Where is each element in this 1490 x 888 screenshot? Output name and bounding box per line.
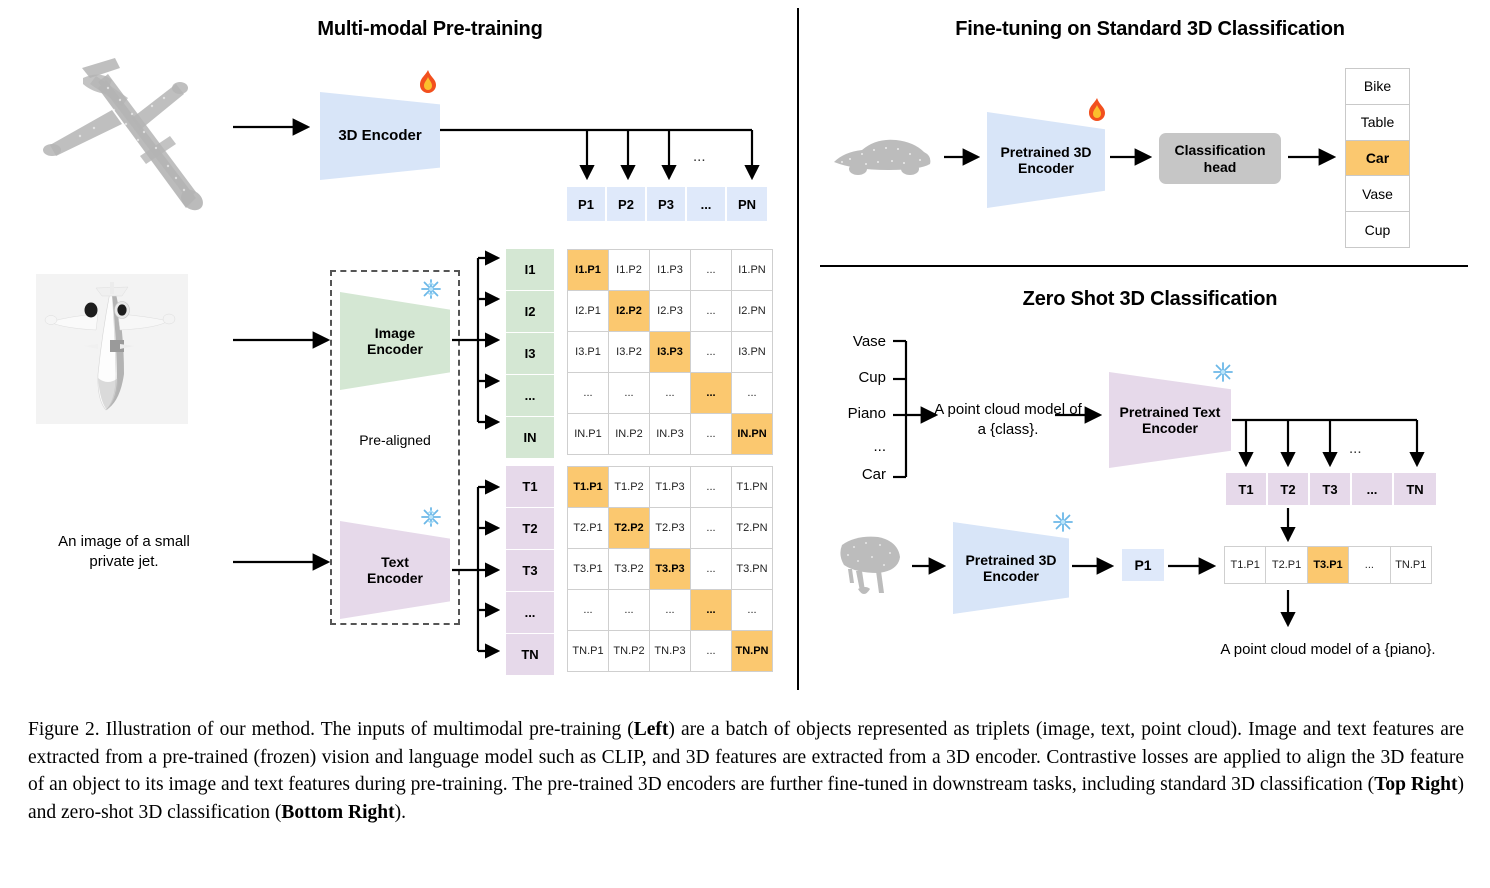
text-token-row: T1 T2 T3 ... TN [1225,472,1437,506]
figure-canvas: Multi-modal Pre-training [0,0,1490,700]
class-item-selected[interactable]: Car [1346,141,1409,176]
piano-point-cloud [832,527,912,607]
point-feature-row: P1 P2 P3 ... PN [566,186,768,222]
matrix-cell[interactable]: ... [691,590,731,630]
p-token[interactable]: P2 [606,186,646,222]
p-token[interactable]: P3 [646,186,686,222]
matrix-cell[interactable]: ... [568,373,608,413]
sim-cell[interactable]: ... [1349,547,1389,583]
matrix-cell[interactable]: IN.PN [732,414,772,454]
matrix-cell[interactable]: ... [691,332,731,372]
i-label[interactable]: ... [506,375,554,416]
sim-cell[interactable]: TN.P1 [1391,547,1431,583]
matrix-cell[interactable]: TN.P1 [568,631,608,671]
matrix-cell[interactable]: ... [732,590,772,630]
t-token[interactable]: TN [1393,472,1437,506]
image-point-similarity-matrix: I1.P1 I1.P2 I1.P3 ... I1.PN I2.P1 I2.P2 … [567,249,773,455]
matrix-cell[interactable]: I3.P1 [568,332,608,372]
snowflake-icon [420,278,442,300]
pre-aligned-label: Pre-aligned [330,431,460,449]
matrix-cell[interactable]: ... [691,250,731,290]
matrix-cell[interactable]: T3.PN [732,549,772,589]
matrix-cell[interactable]: I3.P2 [609,332,649,372]
matrix-cell[interactable]: IN.P2 [609,414,649,454]
matrix-cell[interactable]: T3.P1 [568,549,608,589]
snowflake-icon [420,506,442,528]
class-prediction-list: Bike Table Car Vase Cup [1345,68,1410,248]
i-label[interactable]: I3 [506,333,554,374]
matrix-cell[interactable]: IN.P3 [650,414,690,454]
matrix-cell[interactable]: ... [732,373,772,413]
candidate-class[interactable]: Piano [824,405,886,422]
prompt-template-text: A point cloud model of a {class}. [910,400,1106,439]
sim-cell-selected[interactable]: T3.P1 [1308,547,1348,583]
class-item[interactable]: Cup [1346,212,1409,247]
i-label[interactable]: I1 [506,249,554,290]
t-token[interactable]: ... [1351,472,1393,506]
t-label[interactable]: TN [506,634,554,675]
p-token[interactable]: PN [726,186,768,222]
input-text-caption: An image of a small private jet. [34,532,214,571]
matrix-cell[interactable]: T2.P3 [650,508,690,548]
sim-cell[interactable]: T1.P1 [1225,547,1265,583]
p-token[interactable]: ... [686,186,726,222]
p-token[interactable]: P1 [566,186,606,222]
t-label[interactable]: T1 [506,466,554,507]
matrix-cell[interactable]: ... [691,467,731,507]
zeroshot-similarity-row: T1.P1 T2.P1 T3.P1 ... TN.P1 [1224,546,1432,584]
matrix-cell[interactable]: TN.P3 [650,631,690,671]
jet-render-image [36,274,188,424]
matrix-cell[interactable]: T3.P3 [650,549,690,589]
fire-icon [418,70,438,96]
matrix-cell[interactable]: I2.P3 [650,291,690,331]
class-item[interactable]: Vase [1346,176,1409,211]
p1-feature-token[interactable]: P1 [1121,548,1165,582]
t-token[interactable]: T2 [1267,472,1309,506]
i-label[interactable]: I2 [506,291,554,332]
figure-caption: Figure 2. Illustration of our method. Th… [28,716,1464,827]
branch-ellipsis: ... [693,148,706,165]
t-label[interactable]: T3 [506,550,554,591]
matrix-cell[interactable]: ... [650,373,690,413]
matrix-cell[interactable]: IN.P1 [568,414,608,454]
matrix-cell[interactable]: ... [691,508,731,548]
matrix-cell[interactable]: I2.P2 [609,291,649,331]
class-item[interactable]: Table [1346,105,1409,140]
candidate-class[interactable]: Vase [824,333,886,350]
matrix-cell[interactable]: ... [691,291,731,331]
matrix-cell[interactable]: ... [691,373,731,413]
matrix-cell[interactable]: I1.P1 [568,250,608,290]
pretrained-text-encoder-box[interactable]: Pretrained Text Encoder [1109,372,1231,468]
matrix-cell[interactable]: ... [609,590,649,630]
candidate-class[interactable]: Car [824,466,886,483]
matrix-cell[interactable]: T2.PN [732,508,772,548]
car-point-cloud [828,128,936,184]
matrix-cell[interactable]: I1.P2 [609,250,649,290]
fire-icon [1087,98,1107,124]
matrix-cell[interactable]: T2.P2 [609,508,649,548]
matrix-cell[interactable]: T3.P2 [609,549,649,589]
matrix-cell[interactable]: ... [650,590,690,630]
snowflake-icon [1212,361,1234,383]
matrix-cell[interactable]: ... [691,414,731,454]
matrix-cell[interactable]: I3.P3 [650,332,690,372]
snowflake-icon [1052,511,1074,533]
vertical-divider [797,8,799,690]
candidate-class[interactable]: Cup [824,369,886,386]
matrix-cell[interactable]: ... [691,631,731,671]
zeroshot-result-text: A point cloud model of a {piano}. [1170,640,1486,660]
matrix-cell[interactable]: ... [691,549,731,589]
matrix-cell[interactable]: I1.PN [732,250,772,290]
t-label[interactable]: ... [506,592,554,633]
matrix-cell[interactable]: I3.PN [732,332,772,372]
matrix-cell[interactable]: ... [609,373,649,413]
t-token[interactable]: T3 [1309,472,1351,506]
matrix-cell[interactable]: I1.P3 [650,250,690,290]
classification-head-box[interactable]: Classification head [1159,133,1281,184]
top-right-title: Fine-tuning on Standard 3D Classificatio… [880,18,1420,41]
matrix-cell[interactable]: ... [568,590,608,630]
left-panel-title: Multi-modal Pre-training [270,18,590,41]
matrix-cell[interactable]: T1.P2 [609,467,649,507]
matrix-cell[interactable]: T1.PN [732,467,772,507]
matrix-cell[interactable]: I2.PN [732,291,772,331]
pretrained-3d-encoder-zeroshot[interactable]: Pretrained 3D Encoder [953,522,1069,614]
candidate-class-ellipsis: ... [824,438,886,455]
i-label[interactable]: IN [506,417,554,458]
text-point-similarity-matrix: T1.P1 T1.P2 T1.P3 ... T1.PN T2.P1 T2.P2 … [567,466,773,672]
t-token[interactable]: T1 [1225,472,1267,506]
text-feature-labels: T1 T2 T3 ... TN [506,466,554,675]
airplane-point-cloud [20,40,260,230]
candidate-class-list: Vase Cup Piano ... Car [824,333,886,478]
matrix-cell[interactable]: T2.P1 [568,508,608,548]
sim-cell[interactable]: T2.P1 [1266,547,1306,583]
matrix-cell[interactable]: TN.PN [732,631,772,671]
matrix-cell[interactable]: T1.P3 [650,467,690,507]
matrix-cell[interactable]: T1.P1 [568,467,608,507]
branch-ellipsis: ... [1349,440,1362,457]
bottom-right-title: Zero Shot 3D Classification [920,288,1380,311]
horizontal-divider [820,265,1468,267]
pretrained-3d-encoder-finetune[interactable]: Pretrained 3D Encoder [987,112,1105,208]
matrix-cell[interactable]: TN.P2 [609,631,649,671]
matrix-cell[interactable]: I2.P1 [568,291,608,331]
t-label[interactable]: T2 [506,508,554,549]
class-item[interactable]: Bike [1346,69,1409,104]
image-feature-labels: I1 I2 I3 ... IN [506,249,554,458]
3d-encoder-box[interactable]: 3D Encoder [320,92,440,180]
